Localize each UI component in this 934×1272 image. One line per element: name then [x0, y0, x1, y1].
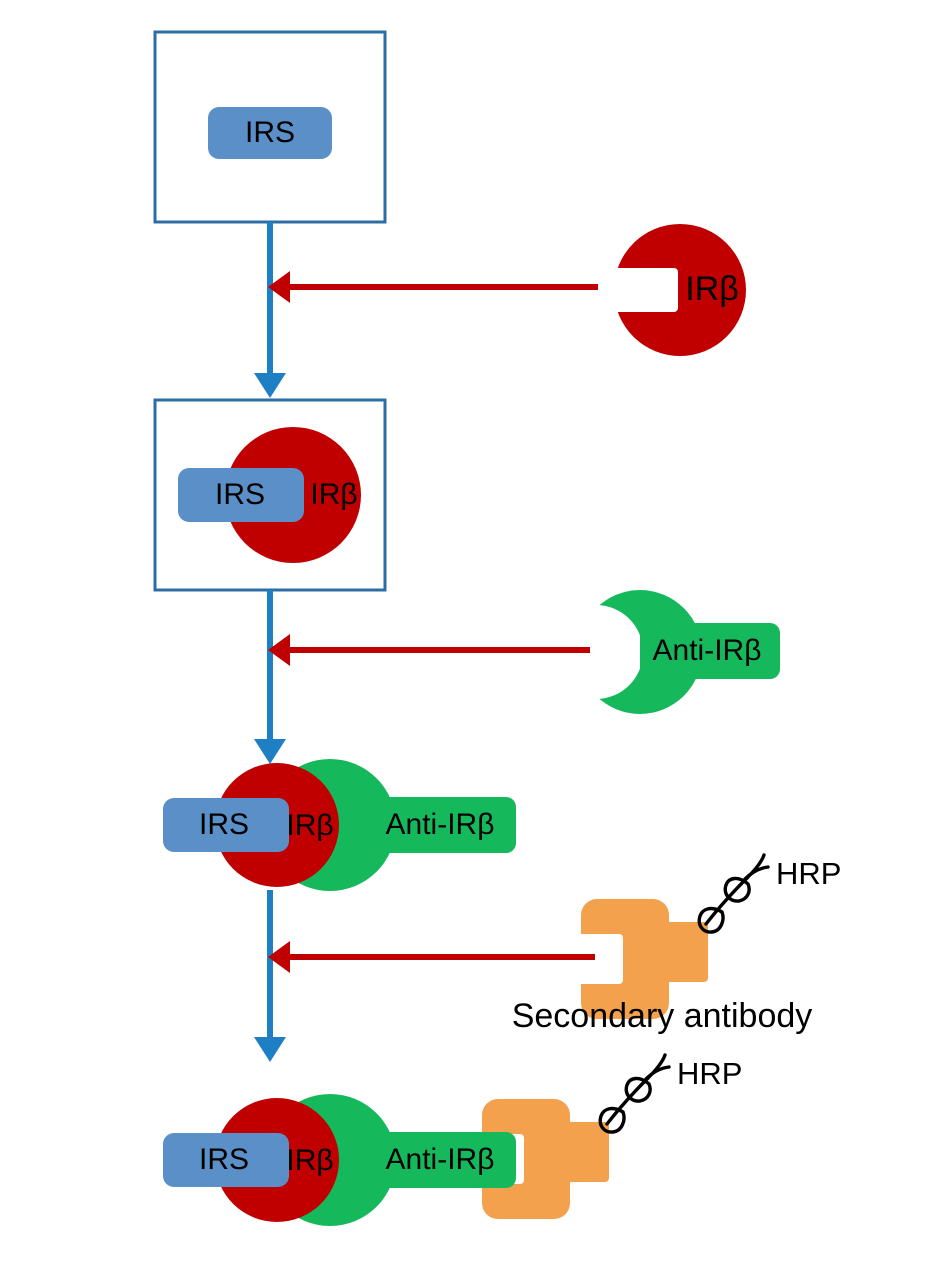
secondary-antibody-reagent-group: HRP Secondary antibody	[512, 855, 842, 1035]
flow-arrow-down-3	[254, 890, 286, 1062]
reagent-arrow-irbeta	[268, 271, 598, 303]
hrp-label-reagent: HRP	[776, 856, 841, 891]
step-4-group: IRS IRβ Anti-IRβ HRP	[163, 1055, 742, 1232]
hrp-label-step-4: HRP	[677, 1056, 742, 1091]
flow-arrow-down-2	[254, 590, 286, 764]
irs-label-step-3: IRS	[199, 808, 249, 841]
anti-irbeta-reagent-label: Anti-IRβ	[653, 634, 762, 667]
step-1-group: IRS	[155, 32, 385, 222]
irbeta-label-step-4: IRβ	[286, 1144, 333, 1177]
irs-label-step-2: IRS	[215, 478, 265, 511]
irs-label-step-1: IRS	[245, 116, 295, 149]
flow-arrow-down-1	[254, 222, 286, 398]
irs-label-step-4: IRS	[199, 1143, 249, 1176]
anti-irbeta-label-step-3: Anti-IRβ	[386, 808, 495, 841]
secondary-antibody-stub-reagent	[660, 922, 708, 982]
step-3-group: IRS IRβ Anti-IRβ	[163, 755, 516, 897]
irbeta-label-step-2: IRβ	[310, 478, 357, 511]
secondary-antibody-stub-step-4	[561, 1122, 609, 1182]
elisa-assay-diagram: IRS IRβ IRβ IRS	[0, 0, 934, 1272]
hrp-tail-step-4	[600, 1055, 669, 1132]
diagram-canvas: IRS IRβ IRβ IRS	[0, 0, 934, 1272]
step-2-group: IRβ IRS	[155, 400, 385, 590]
secondary-antibody-label: Secondary antibody	[512, 997, 813, 1035]
anti-irbeta-label-step-4: Anti-IRβ	[386, 1143, 495, 1176]
reagent-arrow-secondary-antibody	[268, 941, 595, 973]
irbeta-reagent-label: IRβ	[685, 270, 739, 308]
reagent-arrow-anti-irbeta	[268, 634, 590, 666]
irbeta-label-step-3: IRβ	[286, 809, 333, 842]
anti-irbeta-reagent-group: Anti-IRβ	[570, 585, 780, 721]
irbeta-reagent-group: IRβ	[600, 220, 760, 360]
hrp-tail-reagent	[699, 855, 768, 932]
